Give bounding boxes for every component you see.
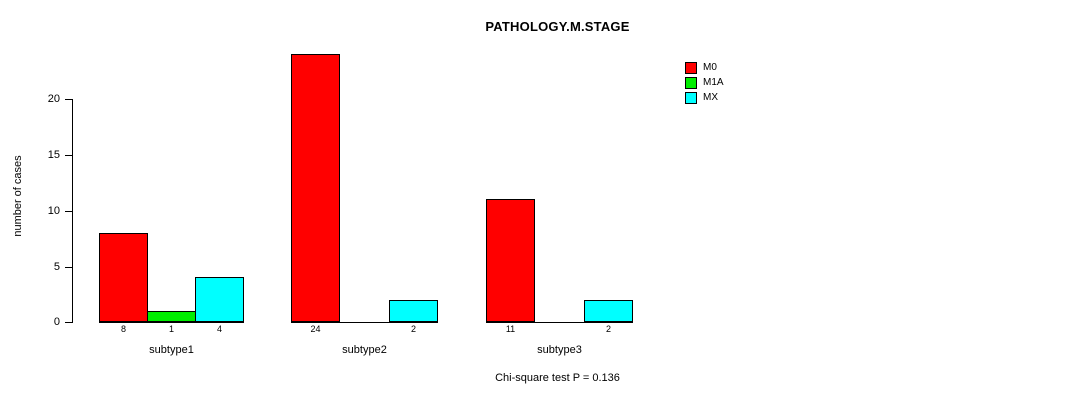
y-axis-line [72, 99, 73, 323]
bar-subtype2-m0[interactable] [291, 54, 340, 322]
bar-value-subtype2-mx: 2 [389, 325, 438, 334]
legend-item-m1a[interactable]: M1A [685, 75, 724, 90]
bar-subtype1-m1a[interactable] [147, 311, 196, 322]
bar-value-subtype1-m1a: 1 [147, 325, 196, 334]
legend: M0 M1A MX [685, 60, 724, 105]
bar-subtype3-mx[interactable] [584, 300, 633, 322]
legend-swatch-icon [685, 77, 697, 89]
y-tick-mark-20 [65, 99, 72, 100]
y-tick-label-0: 0 [0, 317, 60, 328]
y-tick-mark-0 [65, 322, 72, 323]
bar-subtype1-mx[interactable] [195, 277, 244, 322]
group-baseline [486, 322, 633, 323]
y-tick-label-5: 5 [0, 262, 60, 273]
bar-subtype2-mx[interactable] [389, 300, 438, 322]
legend-item-label: MX [703, 93, 718, 103]
bar-value-subtype2-m0: 24 [291, 325, 340, 334]
bar-subtype1-m0[interactable] [99, 233, 148, 322]
y-tick-mark-5 [65, 267, 72, 268]
y-tick-label-10: 10 [0, 206, 60, 217]
chart-root: PATHOLOGY.M.STAGE number of cases 20 15 … [0, 0, 1090, 400]
bar-value-subtype1-m0: 8 [99, 325, 148, 334]
legend-item-label: M1A [703, 78, 724, 88]
bar-subtype3-m0[interactable] [486, 199, 535, 322]
y-tick-mark-10 [65, 211, 72, 212]
group-label-subtype1: subtype1 [99, 345, 244, 356]
y-tick-label-15: 15 [0, 150, 60, 161]
legend-item-mx[interactable]: MX [685, 90, 724, 105]
bar-value-subtype3-m0: 11 [486, 325, 535, 334]
group-baseline [291, 322, 438, 323]
bar-value-subtype1-mx: 4 [195, 325, 244, 334]
bar-value-subtype3-mx: 2 [584, 325, 633, 334]
y-tick-mark-15 [65, 155, 72, 156]
group-baseline [99, 322, 244, 323]
chi-square-annotation: Chi-square test P = 0.136 [0, 372, 1090, 384]
y-axis-title: number of cases [12, 126, 24, 266]
group-label-subtype3: subtype3 [486, 345, 633, 356]
group-label-subtype2: subtype2 [291, 345, 438, 356]
legend-swatch-icon [685, 62, 697, 74]
y-tick-label-20: 20 [0, 94, 60, 105]
legend-item-m0[interactable]: M0 [685, 60, 724, 75]
legend-swatch-icon [685, 92, 697, 104]
plot-area: number of cases 20 15 10 5 0 8 1 4 subty… [0, 0, 1090, 400]
legend-item-label: M0 [703, 63, 717, 73]
